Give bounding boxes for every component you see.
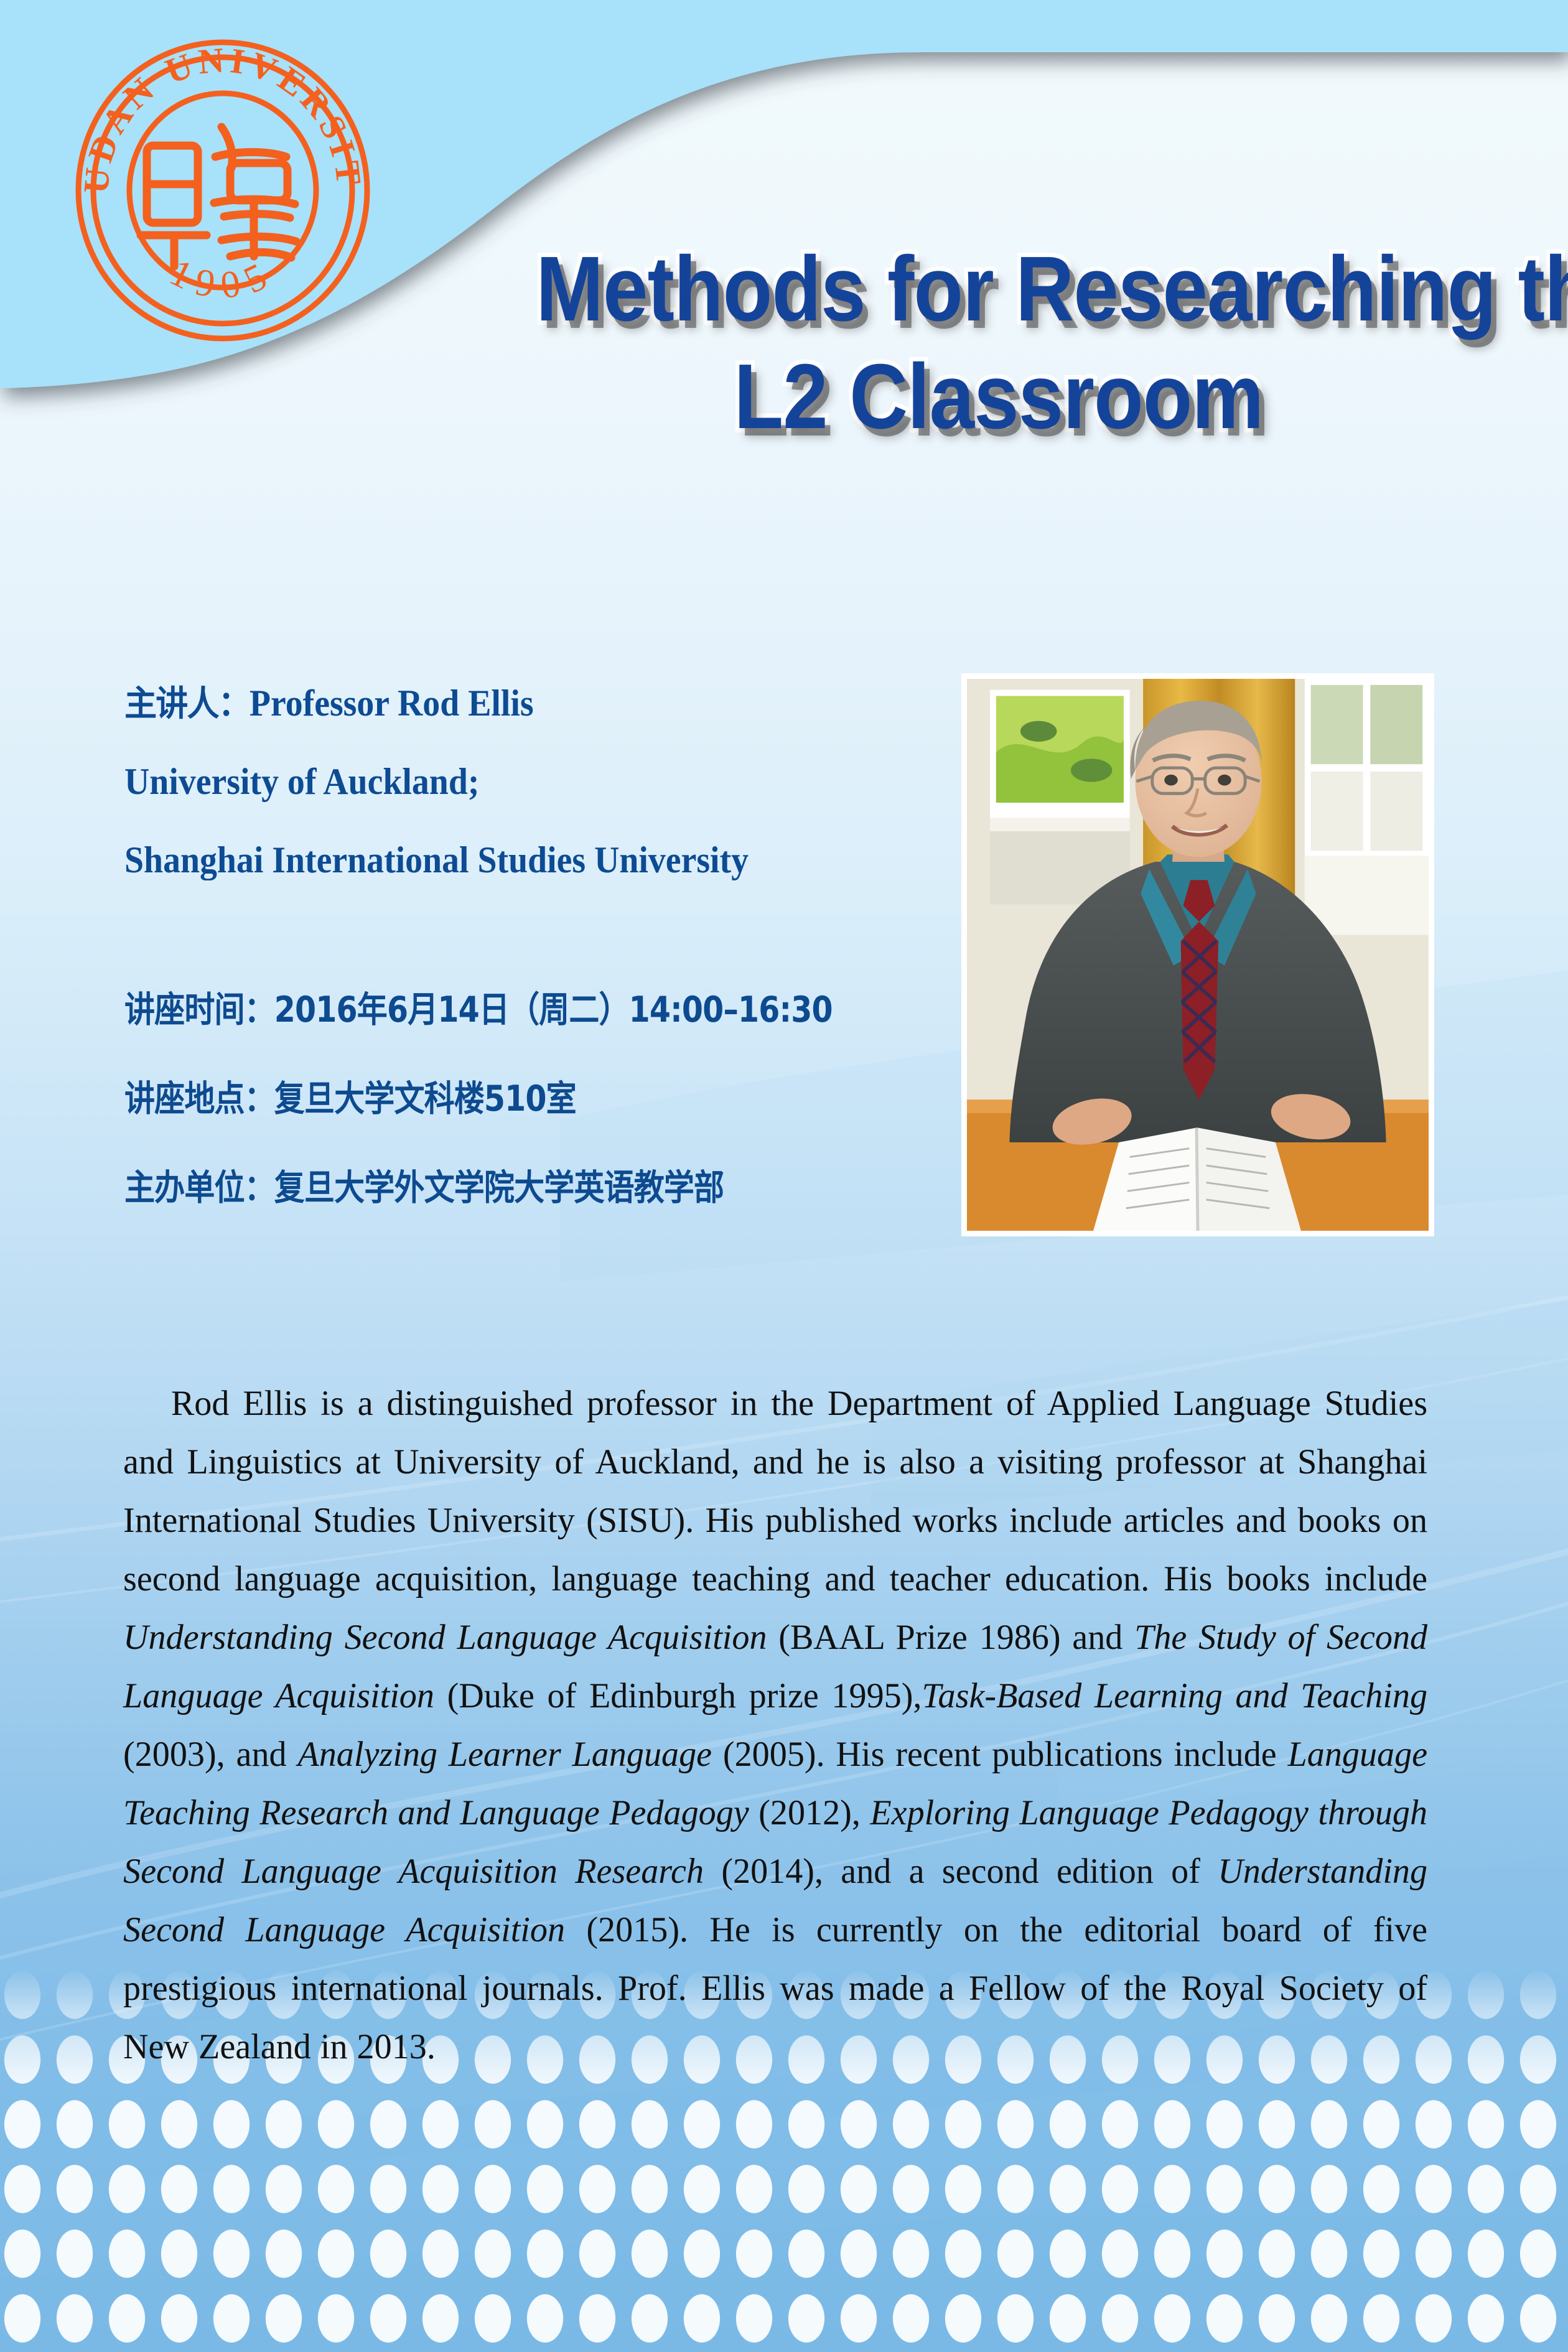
speaker-name: Professor Rod Ellis xyxy=(250,683,534,724)
bio-text: Rod Ellis is a distinguished professor i… xyxy=(123,1384,1427,1598)
speaker-photo xyxy=(961,673,1434,1236)
speaker-affiliation-2: Shanghai International Studies Universit… xyxy=(124,841,889,879)
poster-title: Methods for Researching the L2 Classroom xyxy=(473,243,1524,444)
bio-text: (BAAL Prize 1986) and xyxy=(767,1618,1135,1657)
event-organizer: 主办单位：复旦大学外文学院大学英语教学部 xyxy=(124,1170,927,1206)
svg-text:FUDAN UNIVERSITY: FUDAN UNIVERSITY xyxy=(67,35,369,195)
fudan-university-logo: FUDAN UNIVERSITY 1905 xyxy=(67,35,378,346)
svg-text:1905: 1905 xyxy=(164,251,282,307)
title-line-2: L2 Classroom xyxy=(536,350,1461,444)
book-title: Analyzing Learner Language xyxy=(297,1735,712,1774)
biography-paragraph: Rod Ellis is a distinguished professor i… xyxy=(123,1374,1427,2076)
bio-text: (Duke of Edinburgh prize 1995), xyxy=(434,1676,922,1715)
event-details-block: 讲座时间：2016年6月14日（周二）14:00–16:30 讲座地点：复旦大学… xyxy=(124,992,1058,1206)
bio-text: (2012), xyxy=(749,1793,870,1832)
title-line-1: Methods for Researching the xyxy=(536,243,1461,337)
bio-text: (2005). His recent publications include xyxy=(712,1735,1287,1774)
speaker-label-cjk: 主讲人： xyxy=(124,684,250,724)
poster-root: FUDAN UNIVERSITY 1905 xyxy=(0,0,1568,2352)
speaker-affiliation-1: University of Auckland; xyxy=(124,763,889,800)
event-time: 讲座时间：2016年6月14日（周二）14:00–16:30 xyxy=(124,992,927,1028)
bio-text: (2014), and a second edition of xyxy=(704,1852,1218,1891)
speaker-name-row: 主讲人：Professor Rod Ellis xyxy=(124,684,889,722)
bio-text: (2003), and xyxy=(123,1735,297,1774)
event-venue: 讲座地点：复旦大学文科楼510室 xyxy=(124,1081,927,1117)
book-title: Task-Based Learning and Teaching xyxy=(922,1676,1427,1715)
book-title: Understanding Second Language Acquisitio… xyxy=(123,1618,767,1657)
speaker-info-block: 主讲人：Professor Rod Ellis University of Au… xyxy=(124,684,946,879)
